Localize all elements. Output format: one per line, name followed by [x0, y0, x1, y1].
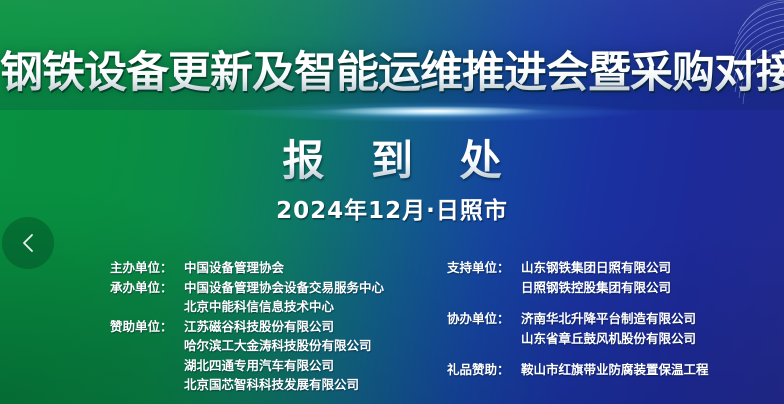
credit-value: 北京国芯智科科技发展有限公司 — [184, 375, 359, 395]
credit-value: 日照钢铁控股集团有限公司 — [521, 278, 671, 298]
credit-value: 济南华北升降平台制造有限公司 — [521, 309, 696, 329]
credit-row: 协办单位： 济南华北升降平台制造有限公司 — [447, 309, 709, 329]
credit-row: 日照钢铁控股集团有限公司 — [447, 278, 709, 298]
date-location-line: 2024年12月·日照市 — [0, 196, 784, 226]
credits-column-left: 主办单位： 中国设备管理协会 承办单位： 中国设备管理协会设备交易服务中心 北京… — [110, 258, 384, 395]
previous-slide-button[interactable] — [2, 217, 54, 269]
glow-band-core — [330, 106, 540, 116]
credit-value: 江苏磁谷科技股份有限公司 — [184, 317, 334, 337]
credit-label: 主办单位： — [110, 258, 184, 278]
credit-value: 北京中能科信信息技术中心 — [184, 297, 334, 317]
credit-value: 鞍山市红旗带业防腐装置保温工程 — [521, 360, 709, 380]
credit-row: 主办单位： 中国设备管理协会 — [110, 258, 384, 278]
credit-label: 赞助单位： — [110, 317, 184, 337]
credit-row: 哈尔滨工大金涛科技股份有限公司 — [110, 336, 384, 356]
page-title: 钢铁设备更新及智能运维推进会暨采购对接交流会 — [0, 44, 784, 102]
credit-value: 山东钢铁集团日照有限公司 — [521, 258, 671, 278]
presentation-slide: 钢铁设备更新及智能运维推进会暨采购对接交流会 报 到 处 2024年12月·日照… — [0, 0, 784, 404]
credit-row-gift-sponsor: 礼品赞助： 鞍山市红旗带业防腐装置保温工程 — [447, 360, 709, 380]
credit-label: 承办单位： — [110, 278, 184, 298]
credit-value: 中国设备管理协会 — [184, 258, 284, 278]
credits-column-right: 支持单位： 山东钢铁集团日照有限公司 日照钢铁控股集团有限公司 协办单位： 济南… — [447, 258, 709, 380]
credit-value: 湖北四通专用汽车有限公司 — [184, 356, 334, 376]
credit-row: 山东省章丘鼓风机股份有限公司 — [447, 329, 709, 349]
credit-label: 支持单位： — [447, 258, 521, 278]
credit-label: 礼品赞助： — [447, 360, 521, 380]
subtitle-registration-desk: 报 到 处 — [0, 136, 784, 186]
credit-row: 支持单位： 山东钢铁集团日照有限公司 — [447, 258, 709, 278]
credit-row: 湖北四通专用汽车有限公司 — [110, 356, 384, 376]
credit-row: 北京中能科信信息技术中心 — [110, 297, 384, 317]
credit-value: 山东省章丘鼓风机股份有限公司 — [521, 329, 696, 349]
credit-row: 北京国芯智科科技发展有限公司 — [110, 375, 384, 395]
credit-row: 承办单位： 中国设备管理协会设备交易服务中心 — [110, 278, 384, 298]
credit-value: 中国设备管理协会设备交易服务中心 — [184, 278, 384, 298]
credit-row: 赞助单位： 江苏磁谷科技股份有限公司 — [110, 317, 384, 337]
credit-label: 协办单位： — [447, 309, 521, 329]
chevron-left-icon — [18, 232, 38, 254]
credit-value: 哈尔滨工大金涛科技股份有限公司 — [184, 336, 372, 356]
